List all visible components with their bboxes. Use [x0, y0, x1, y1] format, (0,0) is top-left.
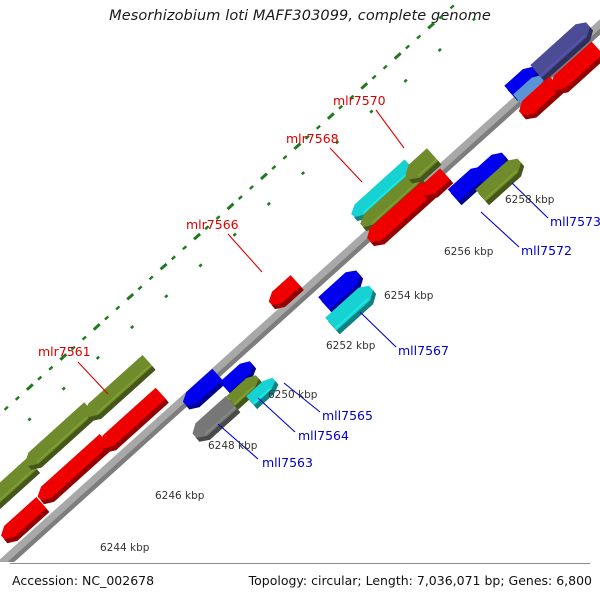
gene-label-mlr7568[interactable]: mlr7568 [286, 131, 339, 146]
scale-tick-label: 6252 kbp [326, 340, 376, 352]
gene-label-mlr7570[interactable]: mlr7570 [333, 93, 386, 108]
gene-label-mll7567[interactable]: mll7567 [398, 343, 449, 358]
label-leader-line [258, 398, 295, 432]
label-leader-line [78, 362, 108, 394]
gene-label-mll7565[interactable]: mll7565 [322, 408, 373, 423]
gene-label-mll7564[interactable]: mll7564 [298, 428, 349, 443]
gene-label-mll7573[interactable]: mll7573 [550, 214, 600, 229]
scale-tick-label: 6248 kbp [208, 440, 258, 452]
scale-tick-labels: 6244 kbp6246 kbp6248 kbp6250 kbp6252 kbp… [100, 194, 555, 554]
gene-label-mlr7566[interactable]: mlr7566 [186, 217, 239, 232]
label-leader-line [376, 110, 404, 148]
footer-divider [10, 563, 590, 564]
gene-label-mll7572[interactable]: mll7572 [521, 243, 572, 258]
scale-tick-label: 6256 kbp [444, 246, 494, 258]
footer-bar: Accession: NC_002678 Topology: circular;… [0, 568, 600, 600]
genome-map-canvas[interactable]: 6244 kbp6246 kbp6248 kbp6250 kbp6252 kbp… [0, 0, 600, 562]
scale-tick-label: 6254 kbp [384, 290, 434, 302]
label-leader-line [481, 212, 519, 247]
label-leader-line [330, 148, 362, 182]
scale-tick-label: 6250 kbp [268, 389, 318, 401]
gene-label-mll7563[interactable]: mll7563 [262, 455, 313, 470]
genome-stats-label: Topology: circular; Length: 7,036,071 bp… [249, 573, 592, 588]
label-leader-line [228, 234, 262, 272]
genome-map-viewport: Mesorhizobium loti MAFF303099, complete … [0, 0, 600, 600]
accession-label: Accession: NC_002678 [12, 573, 154, 588]
gene-label-mlr7561[interactable]: mlr7561 [38, 344, 91, 359]
scale-tick-label: 6244 kbp [100, 542, 150, 554]
scale-tick-label: 6258 kbp [505, 194, 555, 206]
scale-tick-label: 6246 kbp [155, 490, 205, 502]
